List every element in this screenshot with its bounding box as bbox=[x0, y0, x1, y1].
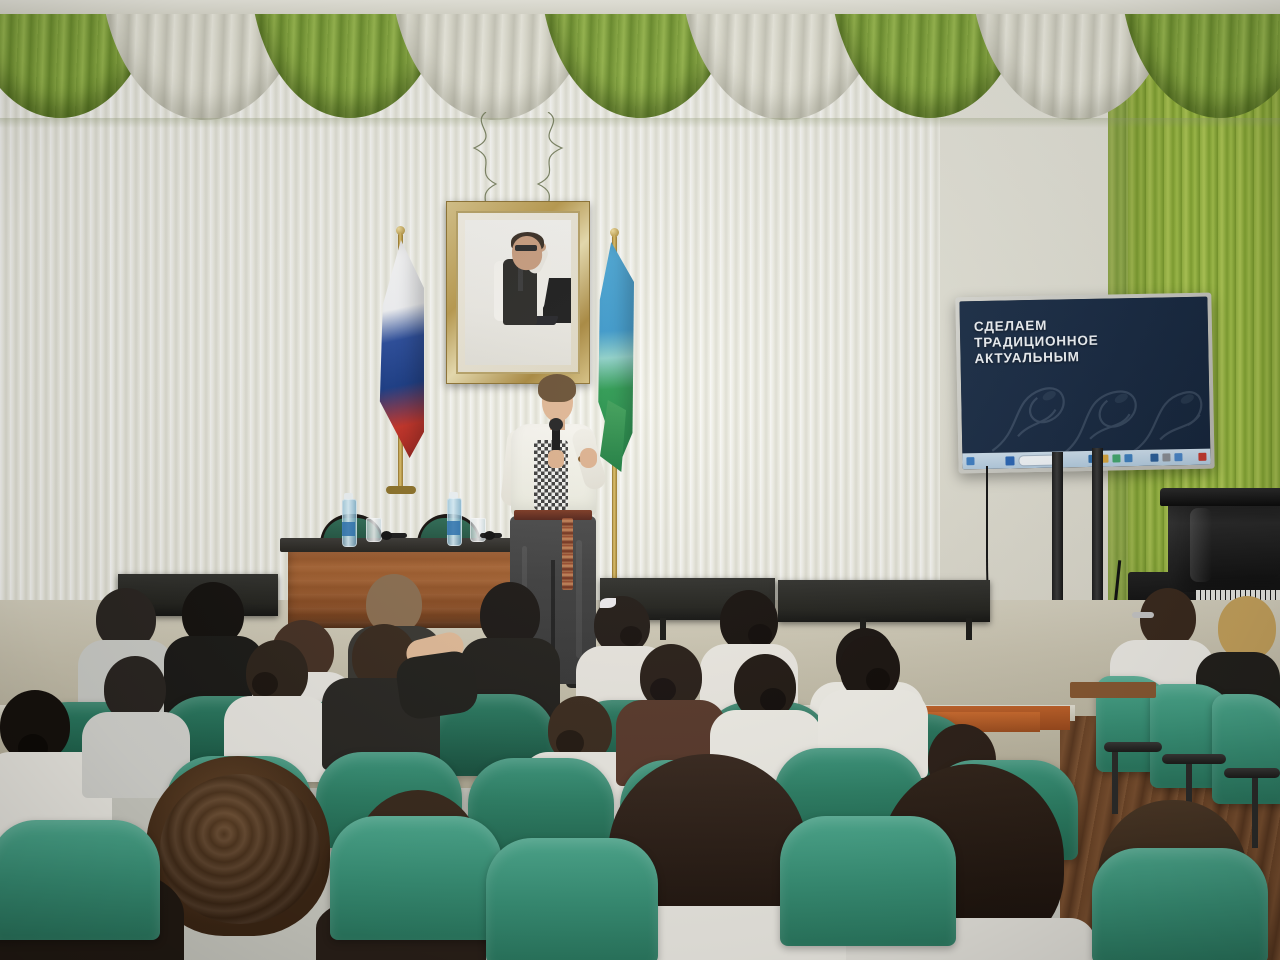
seat-armrest bbox=[1224, 768, 1280, 778]
side-table bbox=[1070, 682, 1156, 698]
eyeglasses-icon bbox=[1132, 612, 1154, 618]
hair-bow bbox=[600, 598, 616, 608]
hair-bun bbox=[760, 688, 786, 712]
presentation-display[interactable]: СДЕЛАЕМ ТРАДИЦИОННОЕ АКТУАЛЬНЫМ bbox=[955, 293, 1214, 474]
record-icon[interactable] bbox=[1198, 453, 1206, 461]
app-icon[interactable] bbox=[1124, 454, 1132, 462]
microphone-base-left bbox=[381, 531, 392, 540]
hair-bun bbox=[252, 672, 278, 696]
bottle-label bbox=[342, 522, 355, 536]
portrait-photo bbox=[465, 220, 571, 365]
bench-leg bbox=[660, 618, 666, 640]
valance-swags bbox=[0, 14, 1280, 132]
auditorium-seat-front[interactable] bbox=[0, 820, 160, 940]
seat-leg bbox=[1112, 752, 1118, 814]
auditorium-seat-front[interactable] bbox=[330, 816, 502, 940]
curly-hair-texture bbox=[160, 774, 320, 924]
browser-icon[interactable] bbox=[1112, 454, 1120, 462]
bench-leg bbox=[966, 618, 972, 640]
hair-bun bbox=[866, 668, 890, 692]
slide-title: СДЕЛАЕМ ТРАДИЦИОННОЕ АКТУАЛЬНЫМ bbox=[974, 315, 1165, 367]
grand-piano-lid bbox=[1160, 488, 1280, 506]
audience-head bbox=[720, 590, 778, 652]
valance-shadow bbox=[0, 118, 1280, 128]
flag-stand-left bbox=[386, 486, 416, 494]
bottle-label bbox=[447, 521, 460, 535]
presidium-table-top bbox=[280, 538, 526, 552]
hair-bun bbox=[620, 626, 642, 646]
start-button-icon[interactable] bbox=[1005, 456, 1014, 465]
speaker-hand-right bbox=[580, 448, 597, 468]
drinking-glass-right bbox=[470, 518, 486, 542]
microphone-base-right bbox=[484, 531, 495, 540]
audience-head bbox=[1140, 588, 1196, 648]
photo-scene: СДЕЛАЕМ ТРАДИЦИОННОЕ АКТУАЛЬНЫМ bbox=[0, 0, 1280, 960]
settings-icon[interactable] bbox=[1162, 453, 1170, 461]
windows-logo-icon[interactable] bbox=[966, 457, 974, 465]
drinking-glass-left bbox=[366, 518, 382, 542]
seat-armrest bbox=[1104, 742, 1162, 752]
microphone-head bbox=[549, 418, 563, 431]
hair-bun bbox=[650, 678, 676, 702]
wall-portrait bbox=[446, 201, 590, 384]
speaker-belt-tail bbox=[562, 518, 573, 590]
speaker-hand-left bbox=[548, 450, 564, 468]
auditorium-seat-front[interactable] bbox=[780, 816, 956, 946]
speaker-hair bbox=[538, 374, 576, 402]
auditorium-seat-right[interactable] bbox=[1212, 694, 1280, 804]
auditorium-seat-front[interactable] bbox=[486, 838, 658, 960]
stage-bench-center2 bbox=[778, 580, 990, 622]
audience-sleeve bbox=[394, 649, 480, 721]
audience-head bbox=[1218, 596, 1276, 660]
media-icon[interactable] bbox=[1150, 454, 1158, 462]
slide-screen: СДЕЛАЕМ ТРАДИЦИОННОЕ АКТУАЛЬНЫМ bbox=[959, 297, 1210, 454]
seat-leg bbox=[1252, 778, 1258, 848]
grand-piano-body bbox=[1168, 500, 1280, 592]
auditorium-seat-front[interactable] bbox=[1092, 848, 1268, 960]
presentation-icon[interactable] bbox=[1174, 453, 1182, 461]
hair-bun bbox=[748, 624, 772, 646]
speaker-belt bbox=[514, 510, 592, 520]
seat-armrest bbox=[1162, 754, 1226, 764]
piano-highlight bbox=[1190, 508, 1212, 582]
